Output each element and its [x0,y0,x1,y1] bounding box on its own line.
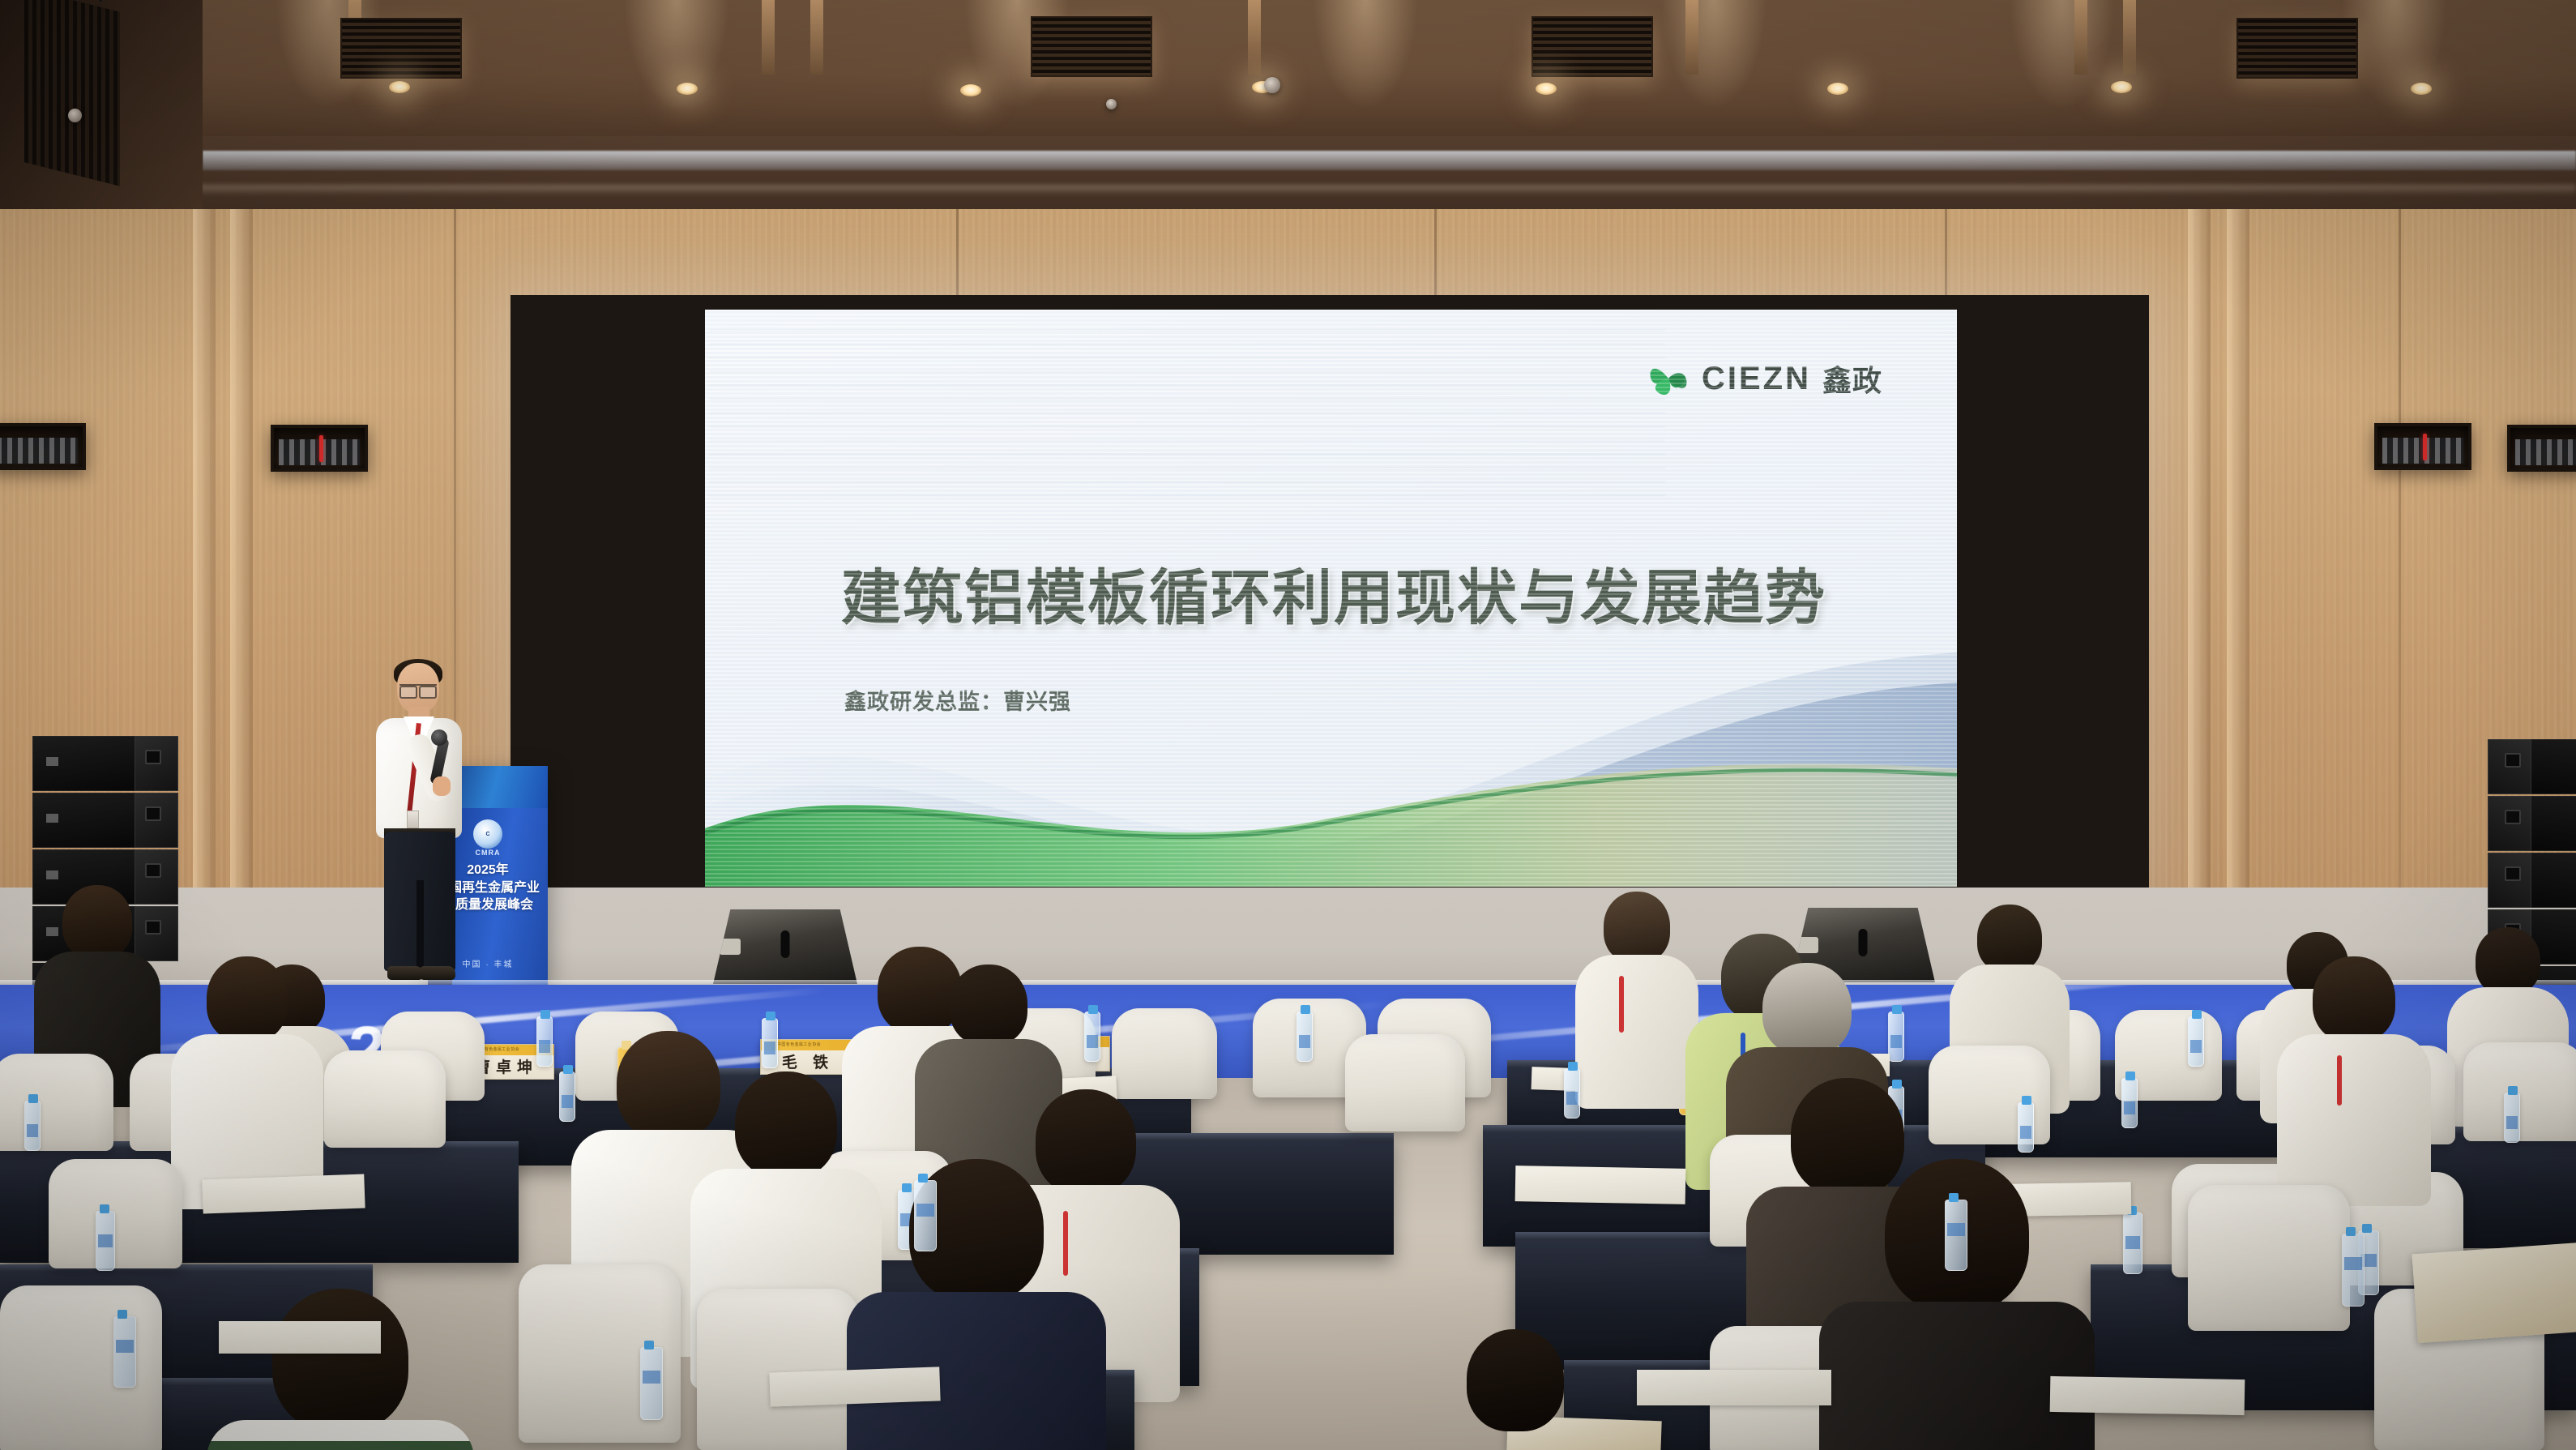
ceiling-camera [68,109,82,122]
ceiling-smoke-detector [1264,77,1280,93]
water-bottle [1945,1200,1967,1271]
audience-person [2293,956,2415,1191]
ciezn-pinwheel-logo-icon [1647,357,1690,400]
presenter [366,663,464,987]
slide-logo-text: CIEZN [1702,361,1811,397]
chair [49,1159,182,1268]
line-array-side-panel [2488,853,2531,908]
conference-hall-photo: CIEZN 鑫政 建筑铝模板循环利用现状与发展趋势 鑫政研发总监：曹兴强 [0,0,2576,1450]
presenter-badge [407,811,419,828]
slide-wave-graphic [705,624,1957,887]
ceiling-beam [762,0,775,75]
slide-texture-lines [709,329,1665,499]
ceiling-downlight [1827,83,1848,95]
person-head [1762,963,1852,1055]
wall-decor-niche [271,425,368,472]
cmra-logo-icon: C [473,819,502,849]
chair [697,1289,859,1450]
presenter-shoe [387,966,423,980]
water-bottle [24,1101,41,1151]
presenter-glasses [399,684,437,694]
presentation-slide: CIEZN 鑫政 建筑铝模板循环利用现状与发展趋势 鑫政研发总监：曹兴强 [705,310,1957,887]
gooseneck-microphone-icon [96,0,144,3]
water-bottle [2123,1213,2142,1274]
line-array-side-panel [135,736,178,791]
water-bottle [536,1016,553,1067]
monitor-port-slot [1859,929,1868,956]
wall-decor-niche [2507,425,2576,472]
monitor-port-slot [781,930,790,958]
line-array-port [145,806,161,821]
wall-decor-niche [2374,423,2471,470]
line-array-port [145,863,161,878]
chair [1345,1034,1465,1131]
wall-decor-niche [0,423,86,470]
ceiling-vent-grille [1532,16,1653,77]
chair [2188,1185,2350,1331]
audience-person [1588,892,1685,1094]
document-paper [2050,1376,2245,1415]
audience-person [883,1159,1070,1450]
ceiling-vent-grille [1031,16,1152,77]
line-array-port [145,750,161,764]
person-head [950,965,1027,1046]
slide-logo: CIEZN 鑫政 [1647,357,1882,400]
ceiling-vent-grille [2236,18,2358,79]
document-paper [769,1367,940,1406]
chair [324,1050,446,1148]
person-head [1977,905,2042,973]
person-lanyard [1619,976,1624,1033]
water-bottle [113,1316,136,1388]
water-bottle [2504,1093,2520,1143]
person-head [2476,927,2540,995]
ceiling-downlight [2411,83,2432,95]
document-paper [1637,1370,1831,1405]
chair [0,1285,162,1450]
water-bottle [914,1180,937,1251]
presenter-shoe [420,966,455,980]
program-booklet [2412,1243,2576,1343]
presenter-hand [433,776,451,796]
audience-person [186,956,308,1191]
line-array-module [32,793,136,848]
person-head [735,1071,837,1178]
microphone-head-icon [431,729,447,746]
ceiling-beam [1685,0,1698,75]
water-bottle [1084,1012,1100,1062]
ceiling-beam [810,0,823,75]
line-array-port [2505,810,2521,824]
water-bottle [559,1071,575,1122]
line-array-side-panel [2488,739,2531,794]
person-torso-striped-polo [207,1420,474,1450]
chair [1112,1008,1217,1099]
person-lanyard [2337,1055,2342,1106]
name-card-org: 中国有色金属工业协会 [777,1040,855,1050]
ceiling-beam [2074,0,2087,75]
audience-person [1442,1329,1588,1450]
ceiling-beam [1248,0,1261,75]
niche-red-accent [2423,434,2427,460]
ceiling-downlight [389,81,410,93]
line-array-module [2530,739,2576,794]
ceiling-sensor [1106,99,1117,109]
slide-logo-text-cn: 鑫政 [1822,357,1882,400]
cmra-logo-label: CMRA [476,849,501,857]
line-array-module [2530,853,2576,908]
ceiling-downlight [2111,81,2132,93]
water-bottle [1297,1012,1313,1062]
water-bottle [2342,1234,2365,1307]
water-bottle [2121,1078,2138,1128]
ceiling-downlight [677,83,698,95]
niche-red-accent [319,435,323,462]
person-head [1467,1329,1564,1431]
line-array-side-panel [135,793,178,848]
line-array-port [2505,753,2521,768]
presentation-screen: CIEZN 鑫政 建筑铝模板循环利用现状与发展趋势 鑫政研发总监：曹兴强 [511,295,2149,899]
water-bottle [640,1347,663,1420]
person-head [617,1031,720,1140]
ceiling-downlight [960,84,981,96]
ceiling [0,0,2576,243]
document-paper [1515,1166,1686,1204]
ceiling-cove-glow [0,185,2576,195]
line-array-module [2530,796,2576,851]
person-torso [2277,1034,2431,1206]
document-paper [202,1174,365,1214]
ceiling-beam [2123,0,2136,75]
line-array-port [145,920,161,935]
ceiling-cove-light [203,151,2576,170]
water-bottle [96,1211,115,1271]
slide-title: 建筑铝模板循环利用现状与发展趋势 [841,550,1826,636]
person-head [207,956,288,1042]
water-bottle [1564,1068,1580,1119]
person-head [1604,892,1670,963]
person-head [272,1289,408,1431]
ceiling-vent-grille [340,18,462,79]
audience-person [243,1289,438,1450]
water-bottle [2018,1102,2034,1153]
stage-monitor-speaker-left [713,909,857,984]
line-array-port [2505,866,2521,881]
chair [0,1054,113,1151]
person-torso [1575,955,1698,1109]
document-paper [219,1321,381,1354]
line-array-side-panel [2488,796,2531,851]
ceiling-downlight [1536,83,1557,95]
ceiling-left-soffit [0,0,203,243]
person-head [2313,956,2395,1042]
water-bottle [1888,1012,1904,1062]
water-bottle [2188,1016,2204,1067]
presenter-leg-gap [417,880,424,971]
water-bottle [762,1018,778,1068]
line-array-module [32,736,136,791]
person-head [62,885,132,960]
